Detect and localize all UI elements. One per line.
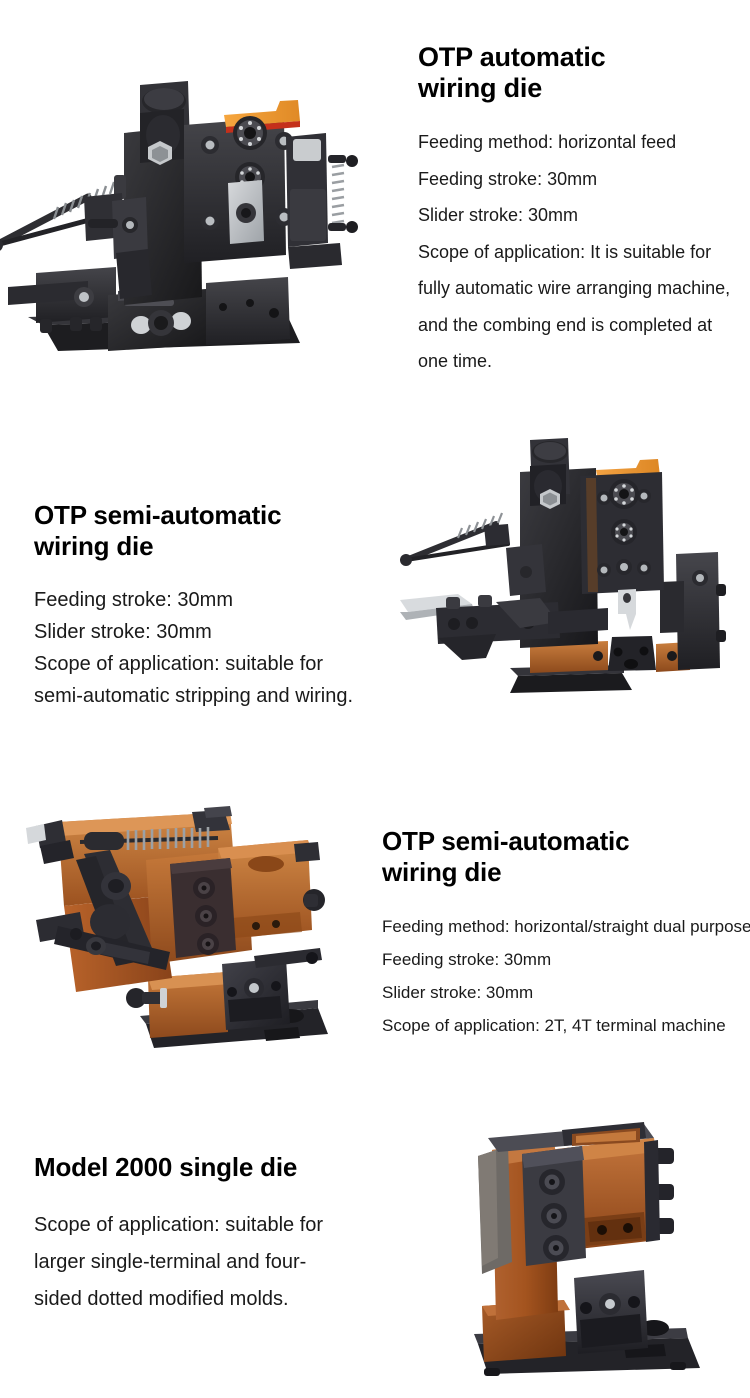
section-4-spec-list: Scope of application: suitable for large… (34, 1207, 414, 1318)
section-3-spec-list: Feeding method: horizontal/straight dual… (382, 910, 732, 1042)
spec-line: Feeding stroke: 30mm (418, 161, 738, 198)
spec-line: Scope of application: It is suitable for (418, 234, 738, 271)
spec-line: one time. (418, 343, 738, 380)
otp-semi-automatic-dual-purpose-die-photo (18, 802, 368, 1057)
section-3-heading: OTP semi-automatic wiring die (382, 826, 732, 888)
section-4-text: Model 2000 single die Scope of applicati… (34, 1152, 414, 1318)
section-1-text: OTP automatic wiring die Feeding method:… (418, 42, 738, 380)
heading-line: Model 2000 single die (34, 1152, 297, 1182)
spec-line: Scope of application: 2T, 4T terminal ma… (382, 1009, 732, 1042)
section-3-text: OTP semi-automatic wiring die Feeding me… (382, 826, 732, 1042)
spec-line: semi-automatic stripping and wiring. (34, 680, 414, 712)
section-2-spec-list: Feeding stroke: 30mm Slider stroke: 30mm… (34, 584, 414, 712)
heading-line: OTP semi-automatic (34, 500, 281, 530)
heading-line: wiring die (382, 857, 501, 887)
otp-semi-automatic-wiring-die-photo (400, 432, 740, 702)
spec-line: and the combing end is completed at (418, 307, 738, 344)
heading-line: wiring die (418, 73, 542, 103)
section-2-text: OTP semi-automatic wiring die Feeding st… (34, 500, 414, 712)
spec-line: Scope of application: suitable for (34, 1207, 414, 1244)
heading-line: OTP semi-automatic (382, 826, 629, 856)
spec-line: larger single-terminal and four- (34, 1244, 414, 1281)
section-1-heading: OTP automatic wiring die (418, 42, 738, 104)
spec-line: Scope of application: suitable for (34, 648, 414, 680)
spec-line: Feeding method: horizontal/straight dual… (382, 910, 732, 943)
spec-line: Feeding method: horizontal feed (418, 124, 738, 161)
spec-line: fully automatic wire arranging machine, (418, 270, 738, 307)
otp-automatic-wiring-die-photo (0, 55, 388, 375)
model-2000-single-die-photo (448, 1112, 728, 1387)
heading-line: OTP automatic (418, 42, 605, 72)
section-1-image (0, 55, 388, 375)
spec-line: Slider stroke: 30mm (34, 616, 414, 648)
spec-line: Slider stroke: 30mm (382, 976, 732, 1009)
spec-line: Feeding stroke: 30mm (34, 584, 414, 616)
spec-line: Slider stroke: 30mm (418, 197, 738, 234)
section-3-image (18, 802, 368, 1057)
section-2-image (400, 432, 740, 702)
spec-line: Feeding stroke: 30mm (382, 943, 732, 976)
heading-line: wiring die (34, 531, 153, 561)
product-spec-page: OTP automatic wiring die Feeding method:… (0, 0, 750, 1398)
section-1-spec-list: Feeding method: horizontal feed Feeding … (418, 124, 738, 380)
section-2-heading: OTP semi-automatic wiring die (34, 500, 414, 562)
section-4-heading: Model 2000 single die (34, 1152, 414, 1183)
spec-line: sided dotted modified molds. (34, 1281, 414, 1318)
section-4-image (448, 1112, 728, 1387)
